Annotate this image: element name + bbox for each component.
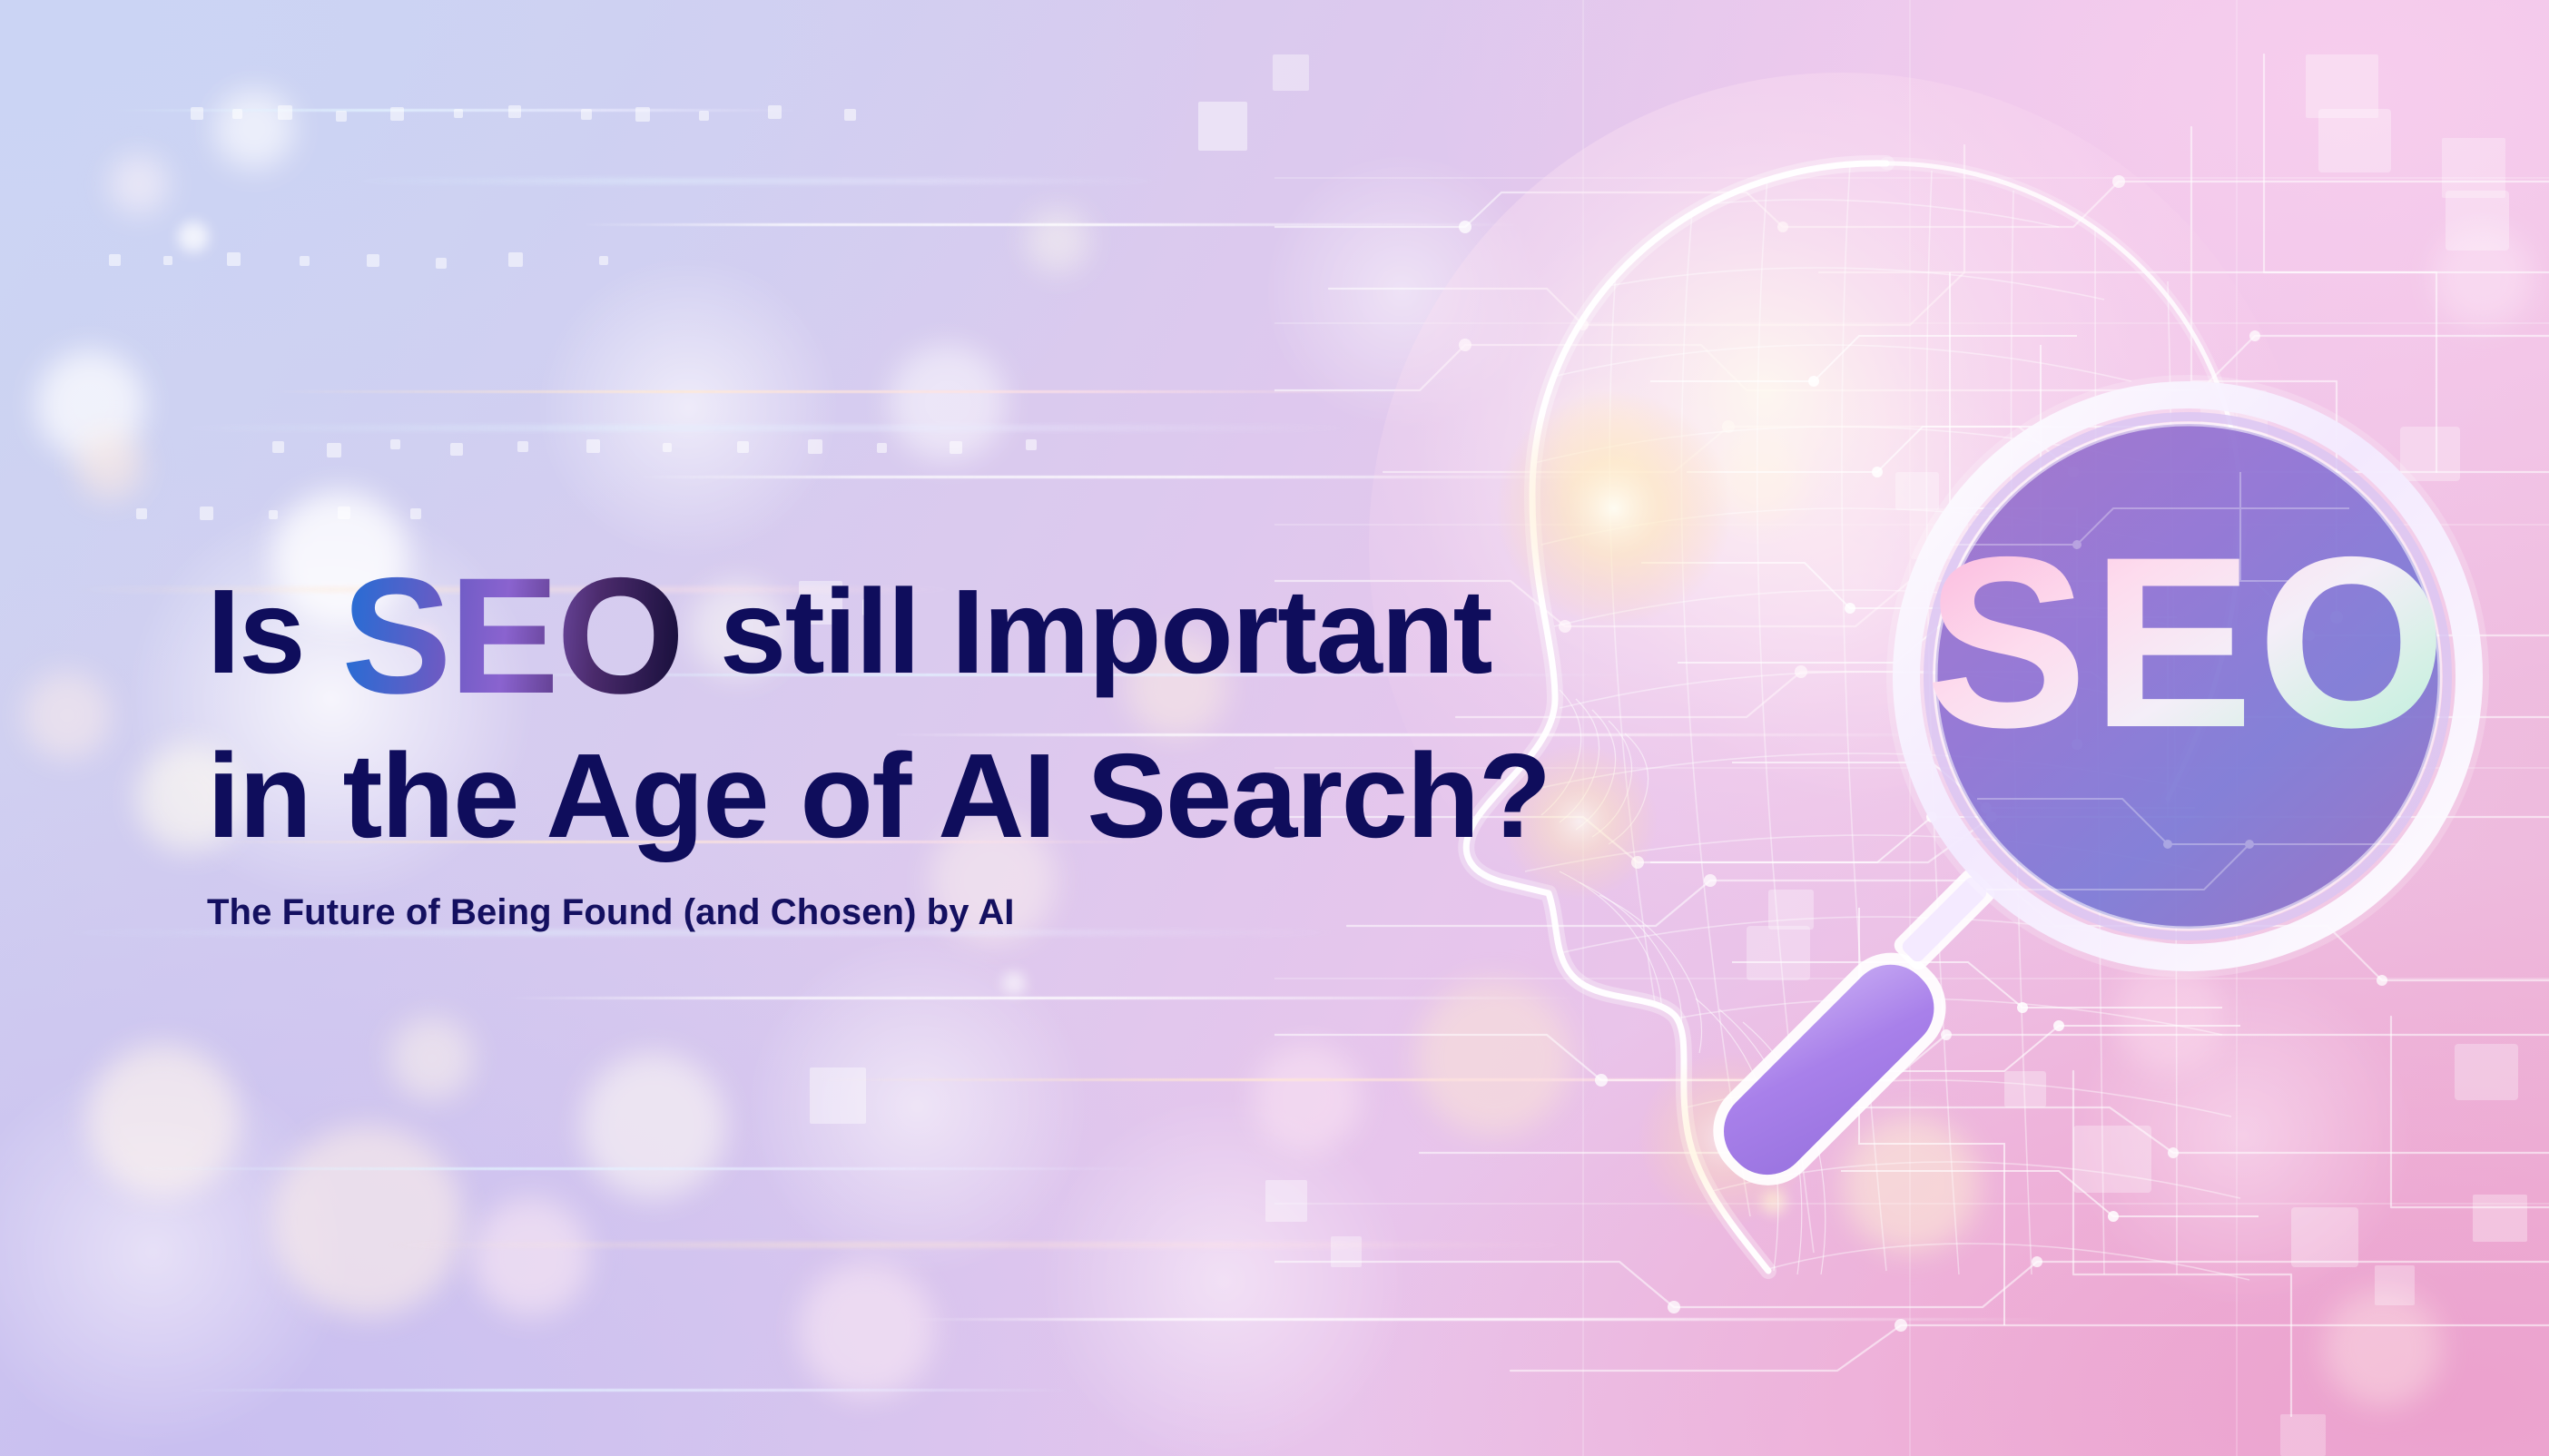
headline-suffix: still Important <box>720 565 1491 698</box>
headline-line-2: in the Age of AI Search? <box>207 733 1569 860</box>
headline-prefix: Is <box>207 565 304 698</box>
page-subtitle: The Future of Being Found (and Chosen) b… <box>207 892 1569 933</box>
magnifier-lens-label: SEO <box>1925 506 2450 778</box>
headline-block: Is SEO still Important in the Age of AI … <box>207 548 1569 933</box>
page-title: Is SEO still Important in the Age of AI … <box>207 548 1569 860</box>
seo-ai-banner: SEO Is SEO still Important in the Age of… <box>0 0 2549 1456</box>
headline-seo-highlight: SEO <box>336 543 687 728</box>
headline-seo-text: SEO <box>341 543 682 728</box>
magnifying-glass-icon: SEO <box>1692 375 2489 1206</box>
